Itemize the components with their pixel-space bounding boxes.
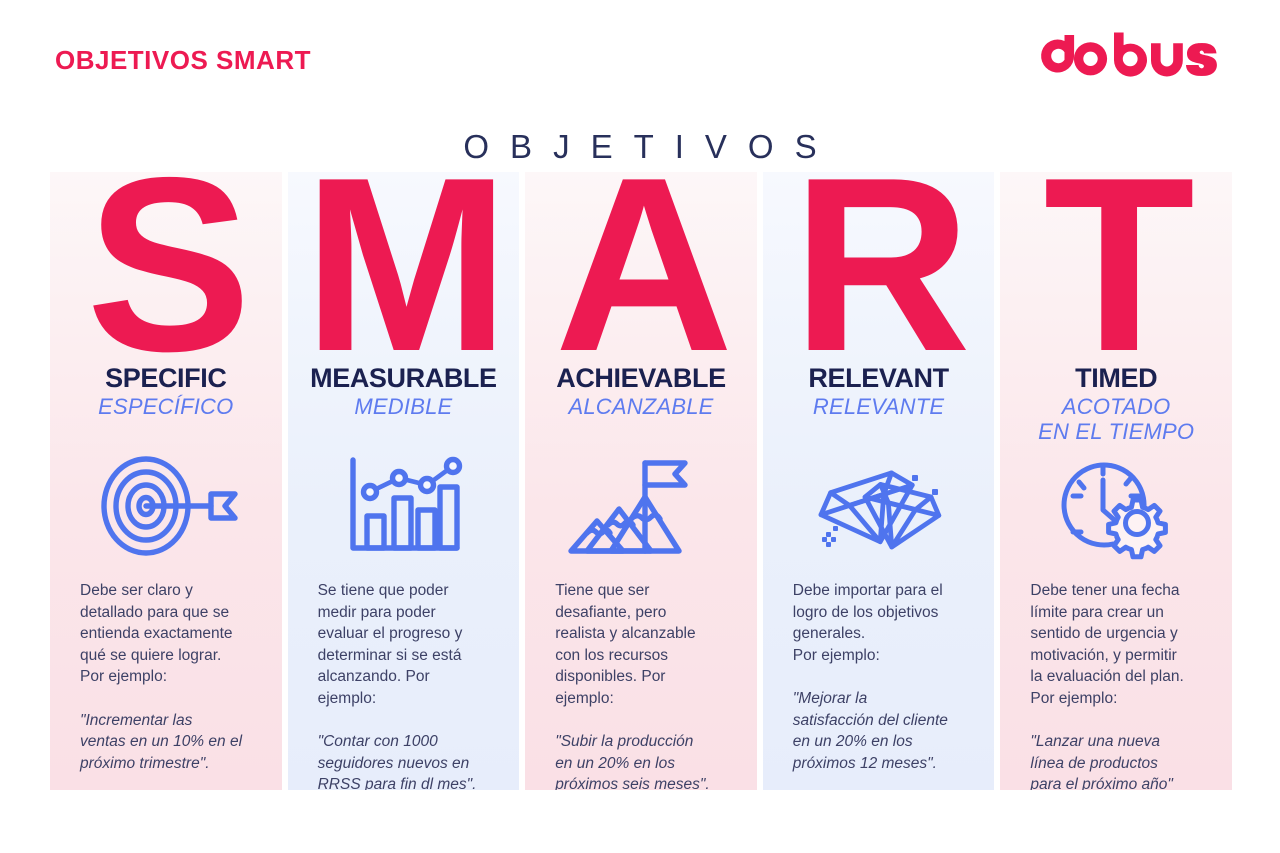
- smart-column-relevant: R RELEVANT RELEVANTE: [763, 172, 995, 790]
- column-titles-relevant: RELEVANT RELEVANTE: [763, 364, 995, 420]
- example-relevant: "Mejorar la satisfacción del cliente en …: [793, 688, 971, 774]
- title-en-measurable: MEASURABLE: [288, 364, 520, 392]
- dobuss-logo: dobuss: [1028, 33, 1228, 85]
- mountains-flag-icon: [567, 453, 715, 559]
- icon-box-achievable: [525, 450, 757, 562]
- title-es-timed: ACOTADO EN EL TIEMPO: [1000, 395, 1232, 444]
- title-es-relevant: RELEVANTE: [763, 395, 995, 420]
- icon-box-specific: [50, 450, 282, 562]
- title-es-measurable: MEDIBLE: [288, 395, 520, 420]
- icon-box-relevant: [763, 450, 995, 562]
- smart-columns: S SPECIFIC ESPECÍFICO Debe ser claro y d…: [50, 172, 1232, 790]
- body-text-relevant: Debe importar para el logro de los objet…: [793, 580, 971, 774]
- page-header: OBJETIVOS SMART dobuss: [0, 0, 1280, 110]
- smart-column-timed: T TIMED ACOTADO EN EL TIEMPO: [1000, 172, 1232, 790]
- big-letter-t: T: [1000, 172, 1232, 388]
- description-measurable: Se tiene que poder medir para poder eval…: [318, 580, 496, 709]
- objetivos-heading: OBJETIVOS: [0, 128, 1280, 166]
- dobuss-logo-icon: [1028, 31, 1228, 87]
- title-es-specific: ESPECÍFICO: [50, 395, 282, 420]
- column-titles-achievable: ACHIEVABLE ALCANZABLE: [525, 364, 757, 420]
- description-achievable: Tiene que ser desafiante, pero realista …: [555, 580, 733, 709]
- title-en-relevant: RELEVANT: [763, 364, 995, 392]
- description-timed: Debe tener una fecha límite para crear u…: [1030, 580, 1208, 709]
- icon-box-measurable: [288, 450, 520, 562]
- body-text-achievable: Tiene que ser desafiante, pero realista …: [555, 580, 733, 790]
- title-en-achievable: ACHIEVABLE: [525, 364, 757, 392]
- smart-column-measurable: M MEASURABLE MEDIBLE Se tiene que poder …: [288, 172, 520, 790]
- big-letter-m: M: [288, 172, 520, 388]
- page-title: OBJETIVOS SMART: [55, 45, 311, 76]
- example-specific: "Incrementar las ventas en un 10% en el …: [80, 710, 258, 775]
- example-achievable: "Subir la producción en un 20% en los pr…: [555, 731, 733, 790]
- big-letter-r: R: [763, 172, 995, 388]
- example-timed: "Lanzar una nueva línea de productos par…: [1030, 731, 1208, 790]
- body-text-timed: Debe tener una fecha límite para crear u…: [1030, 580, 1208, 790]
- description-specific: Debe ser claro y detallado para que se e…: [80, 580, 258, 688]
- smart-column-specific: S SPECIFIC ESPECÍFICO Debe ser claro y d…: [50, 172, 282, 790]
- column-titles-specific: SPECIFIC ESPECÍFICO: [50, 364, 282, 420]
- target-arrow-icon: [91, 454, 241, 558]
- clock-gear-icon: [1051, 452, 1181, 560]
- body-text-measurable: Se tiene que poder medir para poder eval…: [318, 580, 496, 790]
- diamonds-icon: [804, 452, 954, 560]
- title-es-achievable: ALCANZABLE: [525, 395, 757, 420]
- title-en-timed: TIMED: [1000, 364, 1232, 392]
- body-text-specific: Debe ser claro y detallado para que se e…: [80, 580, 258, 774]
- column-titles-timed: TIMED ACOTADO EN EL TIEMPO: [1000, 364, 1232, 445]
- title-en-specific: SPECIFIC: [50, 364, 282, 392]
- icon-box-timed: [1000, 450, 1232, 562]
- bar-line-chart-icon: [343, 454, 463, 558]
- description-relevant: Debe importar para el logro de los objet…: [793, 580, 971, 666]
- smart-column-achievable: A ACHIEVABLE ALCANZABLE Tiene que s: [525, 172, 757, 790]
- example-measurable: "Contar con 1000 seguidores nuevos en RR…: [318, 731, 496, 790]
- big-letter-s: S: [50, 172, 282, 388]
- column-titles-measurable: MEASURABLE MEDIBLE: [288, 364, 520, 420]
- big-letter-a: A: [525, 172, 757, 388]
